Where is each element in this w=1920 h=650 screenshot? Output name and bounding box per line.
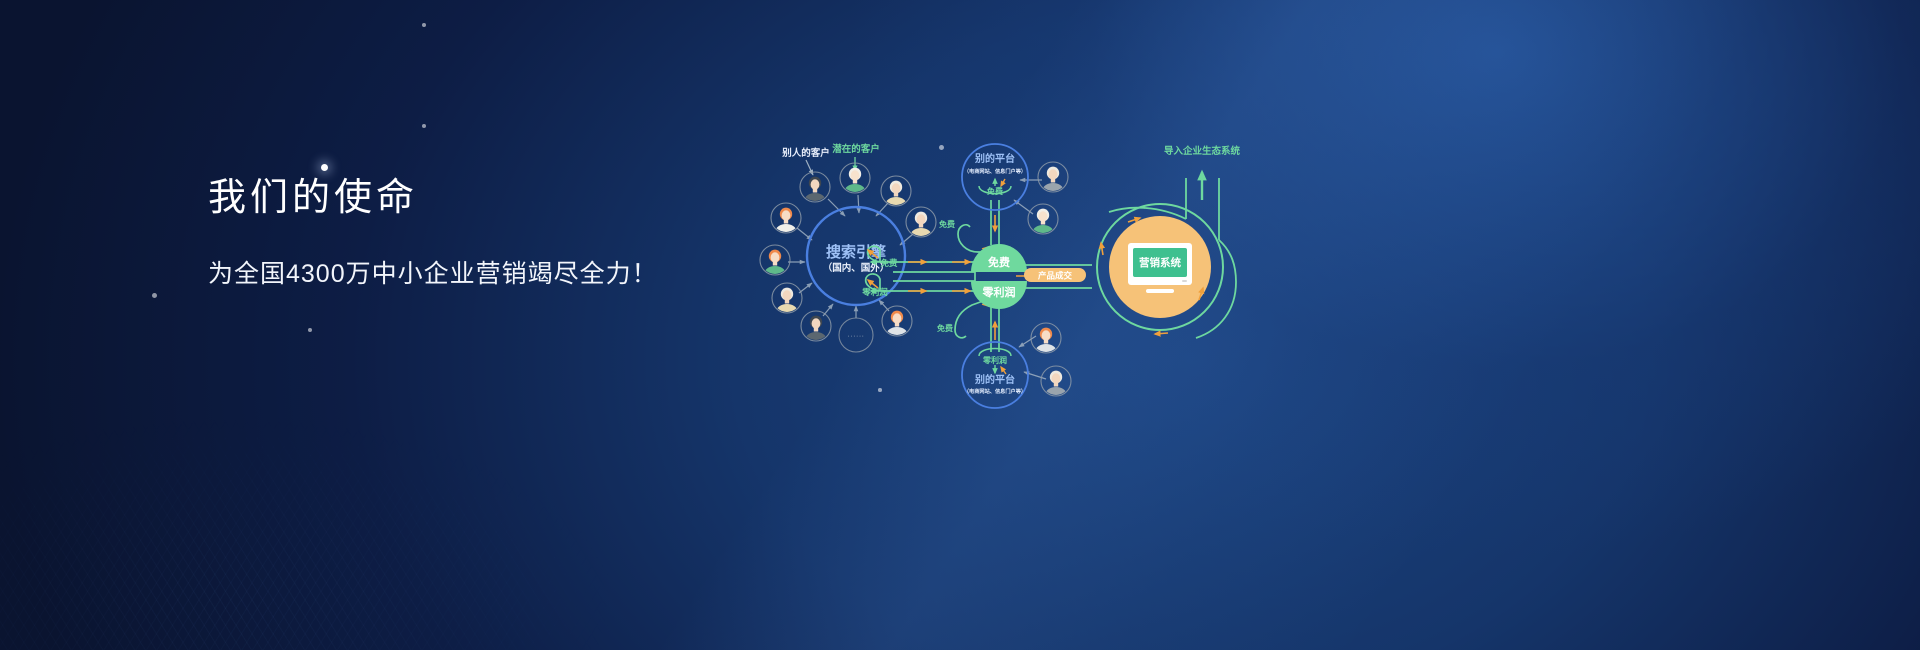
customer-avatar[interactable] <box>881 176 911 206</box>
platform-bottom-title: 别的平台 <box>974 373 1015 386</box>
search-engine-subtitle: （国内、国外） <box>823 262 890 274</box>
avatar-person-icon <box>805 316 827 341</box>
mission-copy-block: 我们的使命 为全国4300万中小企业营销竭尽全力！ <box>208 178 658 290</box>
marketing-system-label: 营销系统 <box>1139 256 1181 269</box>
page-title: 我们的使命 <box>208 178 658 220</box>
edge-label-hub-free-upper: 免费 <box>939 219 955 229</box>
decorative-dot <box>422 23 426 27</box>
marketing-ecosystem-diagram: ······ 搜索引擎 （国内、国外） <box>745 130 1265 420</box>
platform-bottom-subtitle: （电商网站、信息门户等） <box>964 387 1026 395</box>
avatar-person-icon <box>1042 167 1064 192</box>
customer-avatar[interactable] <box>800 172 830 202</box>
customer-avatar[interactable] <box>801 311 831 341</box>
more-customers-placeholder: ······ <box>839 318 873 352</box>
product-deal-label: 产品成交 <box>1038 271 1073 281</box>
customer-avatar[interactable] <box>1041 366 1071 396</box>
edge-label-hub-free-lower: 免费 <box>937 323 953 333</box>
decorative-dot <box>321 164 328 171</box>
avatar-person-icon <box>764 250 786 275</box>
platform-top-subtitle: （电商网站、信息门户等） <box>964 167 1026 175</box>
badge-product-deal[interactable]: 产品成交 <box>1024 268 1086 282</box>
avatar-person-icon <box>776 288 798 313</box>
avatar-person-icon <box>885 181 907 206</box>
customer-avatar[interactable] <box>1031 323 1061 353</box>
page-subtitle: 为全国4300万中小企业营销竭尽全力！ <box>208 254 658 290</box>
platform-top-title: 别的平台 <box>974 152 1015 165</box>
diagram-canvas: ······ 搜索引擎 （国内、国外） <box>745 130 1265 420</box>
avatar-person-icon <box>910 212 932 237</box>
customer-avatar[interactable] <box>772 283 802 313</box>
avatar-person-icon <box>1045 371 1067 396</box>
node-marketing-system[interactable]: 营销系统 <box>1097 204 1223 334</box>
more-placeholder-label: ······ <box>848 333 865 340</box>
platform-top-badge: 免费 <box>987 186 1003 196</box>
hub-top-label: 免费 <box>988 255 1010 269</box>
avatar-person-icon <box>775 208 797 233</box>
label-potential-customers: 潜在的客户 <box>832 143 880 155</box>
avatar-person-icon <box>804 177 826 202</box>
customer-feed-arrows <box>788 180 1046 379</box>
node-platform-top[interactable]: 别的平台 （电商网站、信息门户等） 免费 <box>962 144 1028 210</box>
edge-label-se-zero-profit: 零利润 <box>861 287 888 297</box>
edge-label-se-free: 免费 <box>880 258 898 268</box>
rail-edge-labels: 免费 零利润 免费 免费 <box>861 219 955 333</box>
customer-avatar[interactable] <box>1038 162 1068 192</box>
customer-avatar[interactable] <box>1028 204 1058 234</box>
label-import-ecosystem: 导入企业生态系统 <box>1164 145 1241 157</box>
decorative-dot <box>422 124 426 128</box>
avatar-person-icon <box>886 311 908 336</box>
avatar-person-icon <box>1035 328 1057 353</box>
platform-bottom-badge: 零利润 <box>982 355 1007 365</box>
customer-avatar[interactable] <box>906 207 936 237</box>
decorative-dot <box>152 293 157 298</box>
mission-banner: 我们的使命 为全国4300万中小企业营销竭尽全力！ <box>0 0 1920 650</box>
label-others-customers: 别人的客户 <box>781 147 830 159</box>
avatar-person-icon <box>1032 209 1054 234</box>
customer-avatar[interactable] <box>882 306 912 336</box>
decorative-dot <box>308 328 312 332</box>
hub-bottom-label: 零利润 <box>982 285 1016 299</box>
background-mesh-texture <box>0 270 780 650</box>
customer-avatar[interactable] <box>760 245 790 275</box>
search-engine-title: 搜索引擎 <box>826 243 886 261</box>
customer-avatar[interactable] <box>771 203 801 233</box>
node-platform-bottom[interactable]: 零利润 别的平台 （电商网站、信息门户等） <box>962 342 1028 408</box>
avatar-person-icon <box>844 168 866 193</box>
